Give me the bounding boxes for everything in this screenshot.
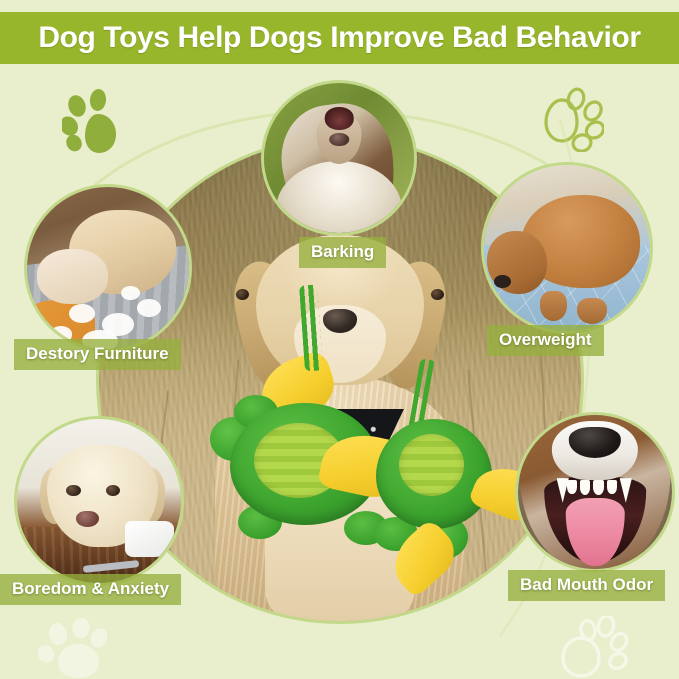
infographic-canvas: Dog Toys Help Dogs Improve Bad Behavior	[0, 0, 679, 679]
issue-photo-overweight	[481, 162, 653, 334]
label-bad-mouth-odor: Bad Mouth Odor	[508, 570, 665, 601]
header-banner: Dog Toys Help Dogs Improve Bad Behavior	[0, 12, 679, 64]
page-title: Dog Toys Help Dogs Improve Bad Behavior	[38, 21, 640, 55]
issue-photo-boredom-anxiety	[14, 416, 184, 586]
issue-photo-barking	[261, 80, 417, 236]
issue-photo-bad-mouth-odor	[515, 412, 675, 572]
label-boredom-anxiety: Boredom & Anxiety	[0, 574, 181, 605]
issue-photo-destroy-furniture	[24, 184, 192, 352]
label-destroy-furniture: Destory Furniture	[14, 339, 181, 370]
plush-turtle-toy	[366, 413, 516, 553]
label-barking: Barking	[299, 237, 386, 268]
label-overweight: Overweight	[487, 325, 604, 356]
